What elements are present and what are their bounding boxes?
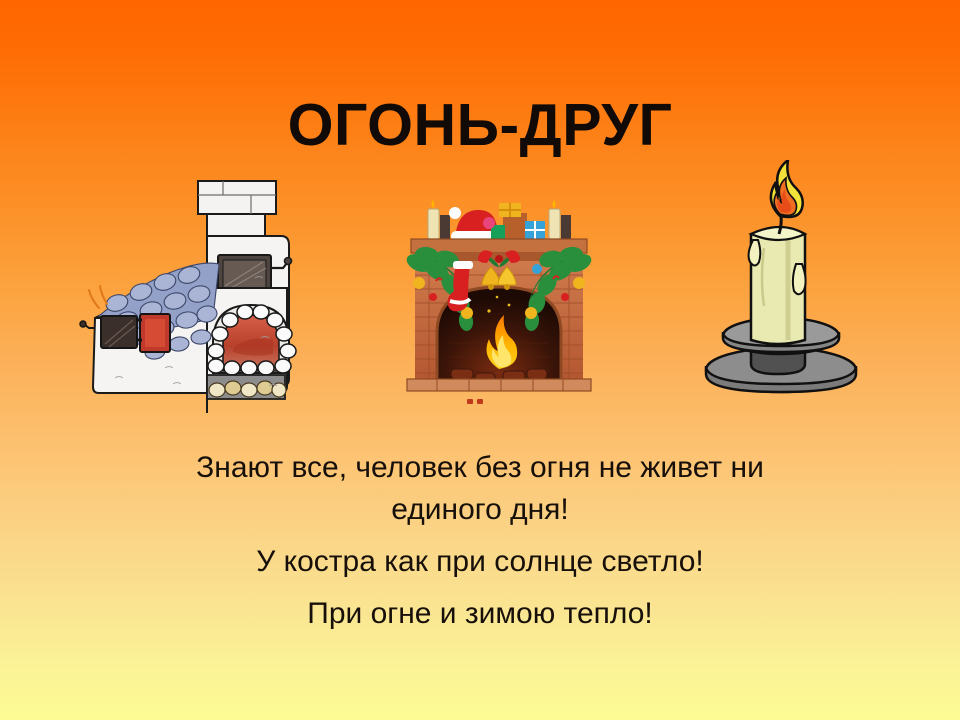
caption-line-1: Знают все, человек без огня не живет ни <box>60 448 900 488</box>
slide-canvas: ОГОНЬ-ДРУГ <box>0 0 960 720</box>
illustration-christmas-fireplace <box>393 193 605 393</box>
illustration-candle <box>688 160 923 400</box>
caption-line-4: При огне и зимою тепло! <box>60 594 900 634</box>
caption-line-3: У костра как при солнце светло! <box>60 542 900 582</box>
artifact-speck <box>477 399 483 404</box>
caption-block: Знают все, человек без огня не живет ни … <box>60 448 900 634</box>
page-title: ОГОНЬ-ДРУГ <box>0 92 960 158</box>
caption-line-2: единого дня! <box>60 490 900 530</box>
illustration-russian-stove <box>55 168 320 413</box>
artifact-speck <box>467 399 473 404</box>
